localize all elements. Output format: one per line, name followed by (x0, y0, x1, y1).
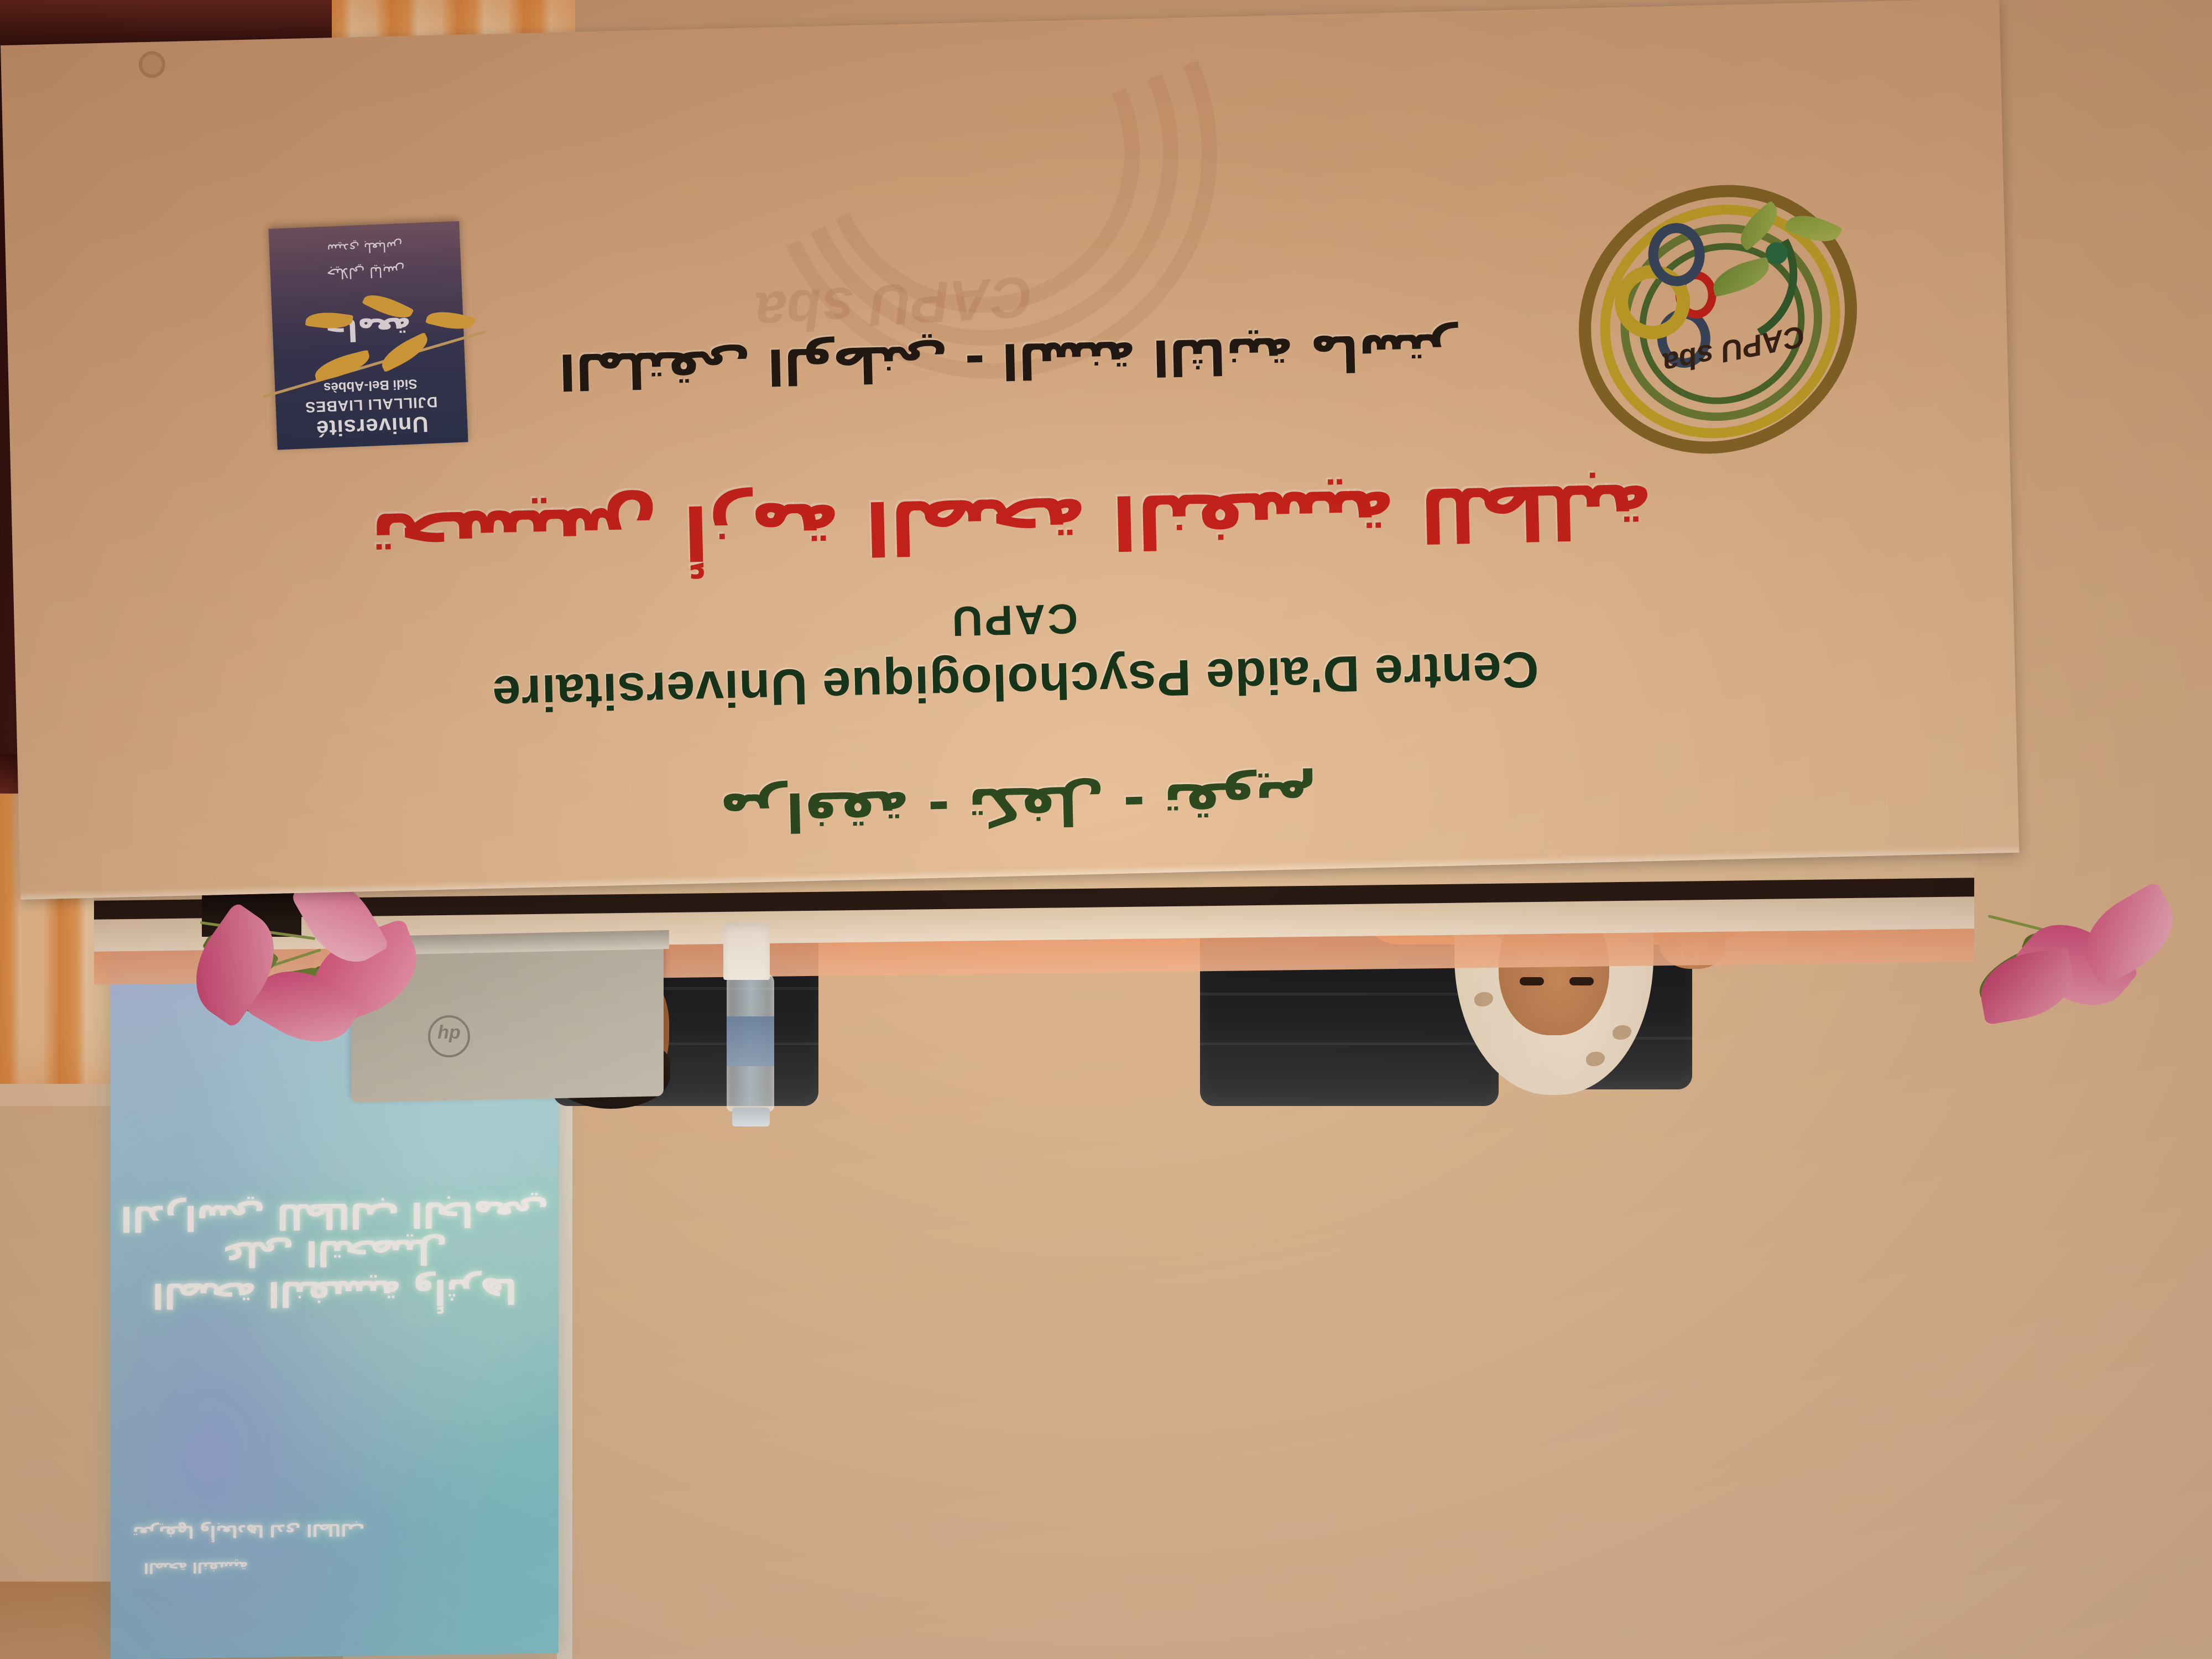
hp-logo-icon (428, 1015, 470, 1057)
screen-main-line-2: الدراسي للطالب الجامعي (111, 1192, 559, 1239)
banner-green-arabic-tagline: مرافقة - تكفل - تقويم (18, 752, 2018, 861)
photograph-canvas: الصحة النفسية تعريفها وأبعادها لدى الطال… (0, 0, 2212, 1659)
banner-red-arabic-title: تحسيس أزمة الصحة النفسية للطلبة (12, 458, 2012, 590)
screen-main-line-1: الصحة النفسية وأثرها على التحصيل (111, 1229, 559, 1316)
paper-cup (723, 922, 770, 980)
screen-small-line-2: تعريفها وأبعادها لدى الطالب (111, 1516, 559, 1542)
water-bottle-label (727, 1016, 774, 1066)
water-bottle-cap (732, 1108, 770, 1126)
banner-grommet (138, 51, 165, 78)
scene-root: الصحة النفسية تعريفها وأبعادها لدى الطال… (0, 0, 2212, 1659)
capu-logo: CAPU sba (1584, 185, 1871, 456)
university-logo-arabic-line2: جيلالي ليابس (270, 260, 461, 284)
university-logo: Université DJILLALI LIABES Sidi Bel-Abbè… (268, 221, 468, 450)
screen-small-line-1: الصحة النفسية (111, 1553, 559, 1576)
university-logo-arabic-line3: سيدي بلعباس (269, 236, 461, 259)
event-banner: CAPU sba مرافقة - تكفل - تقويم Centre D'… (1, 0, 2019, 900)
